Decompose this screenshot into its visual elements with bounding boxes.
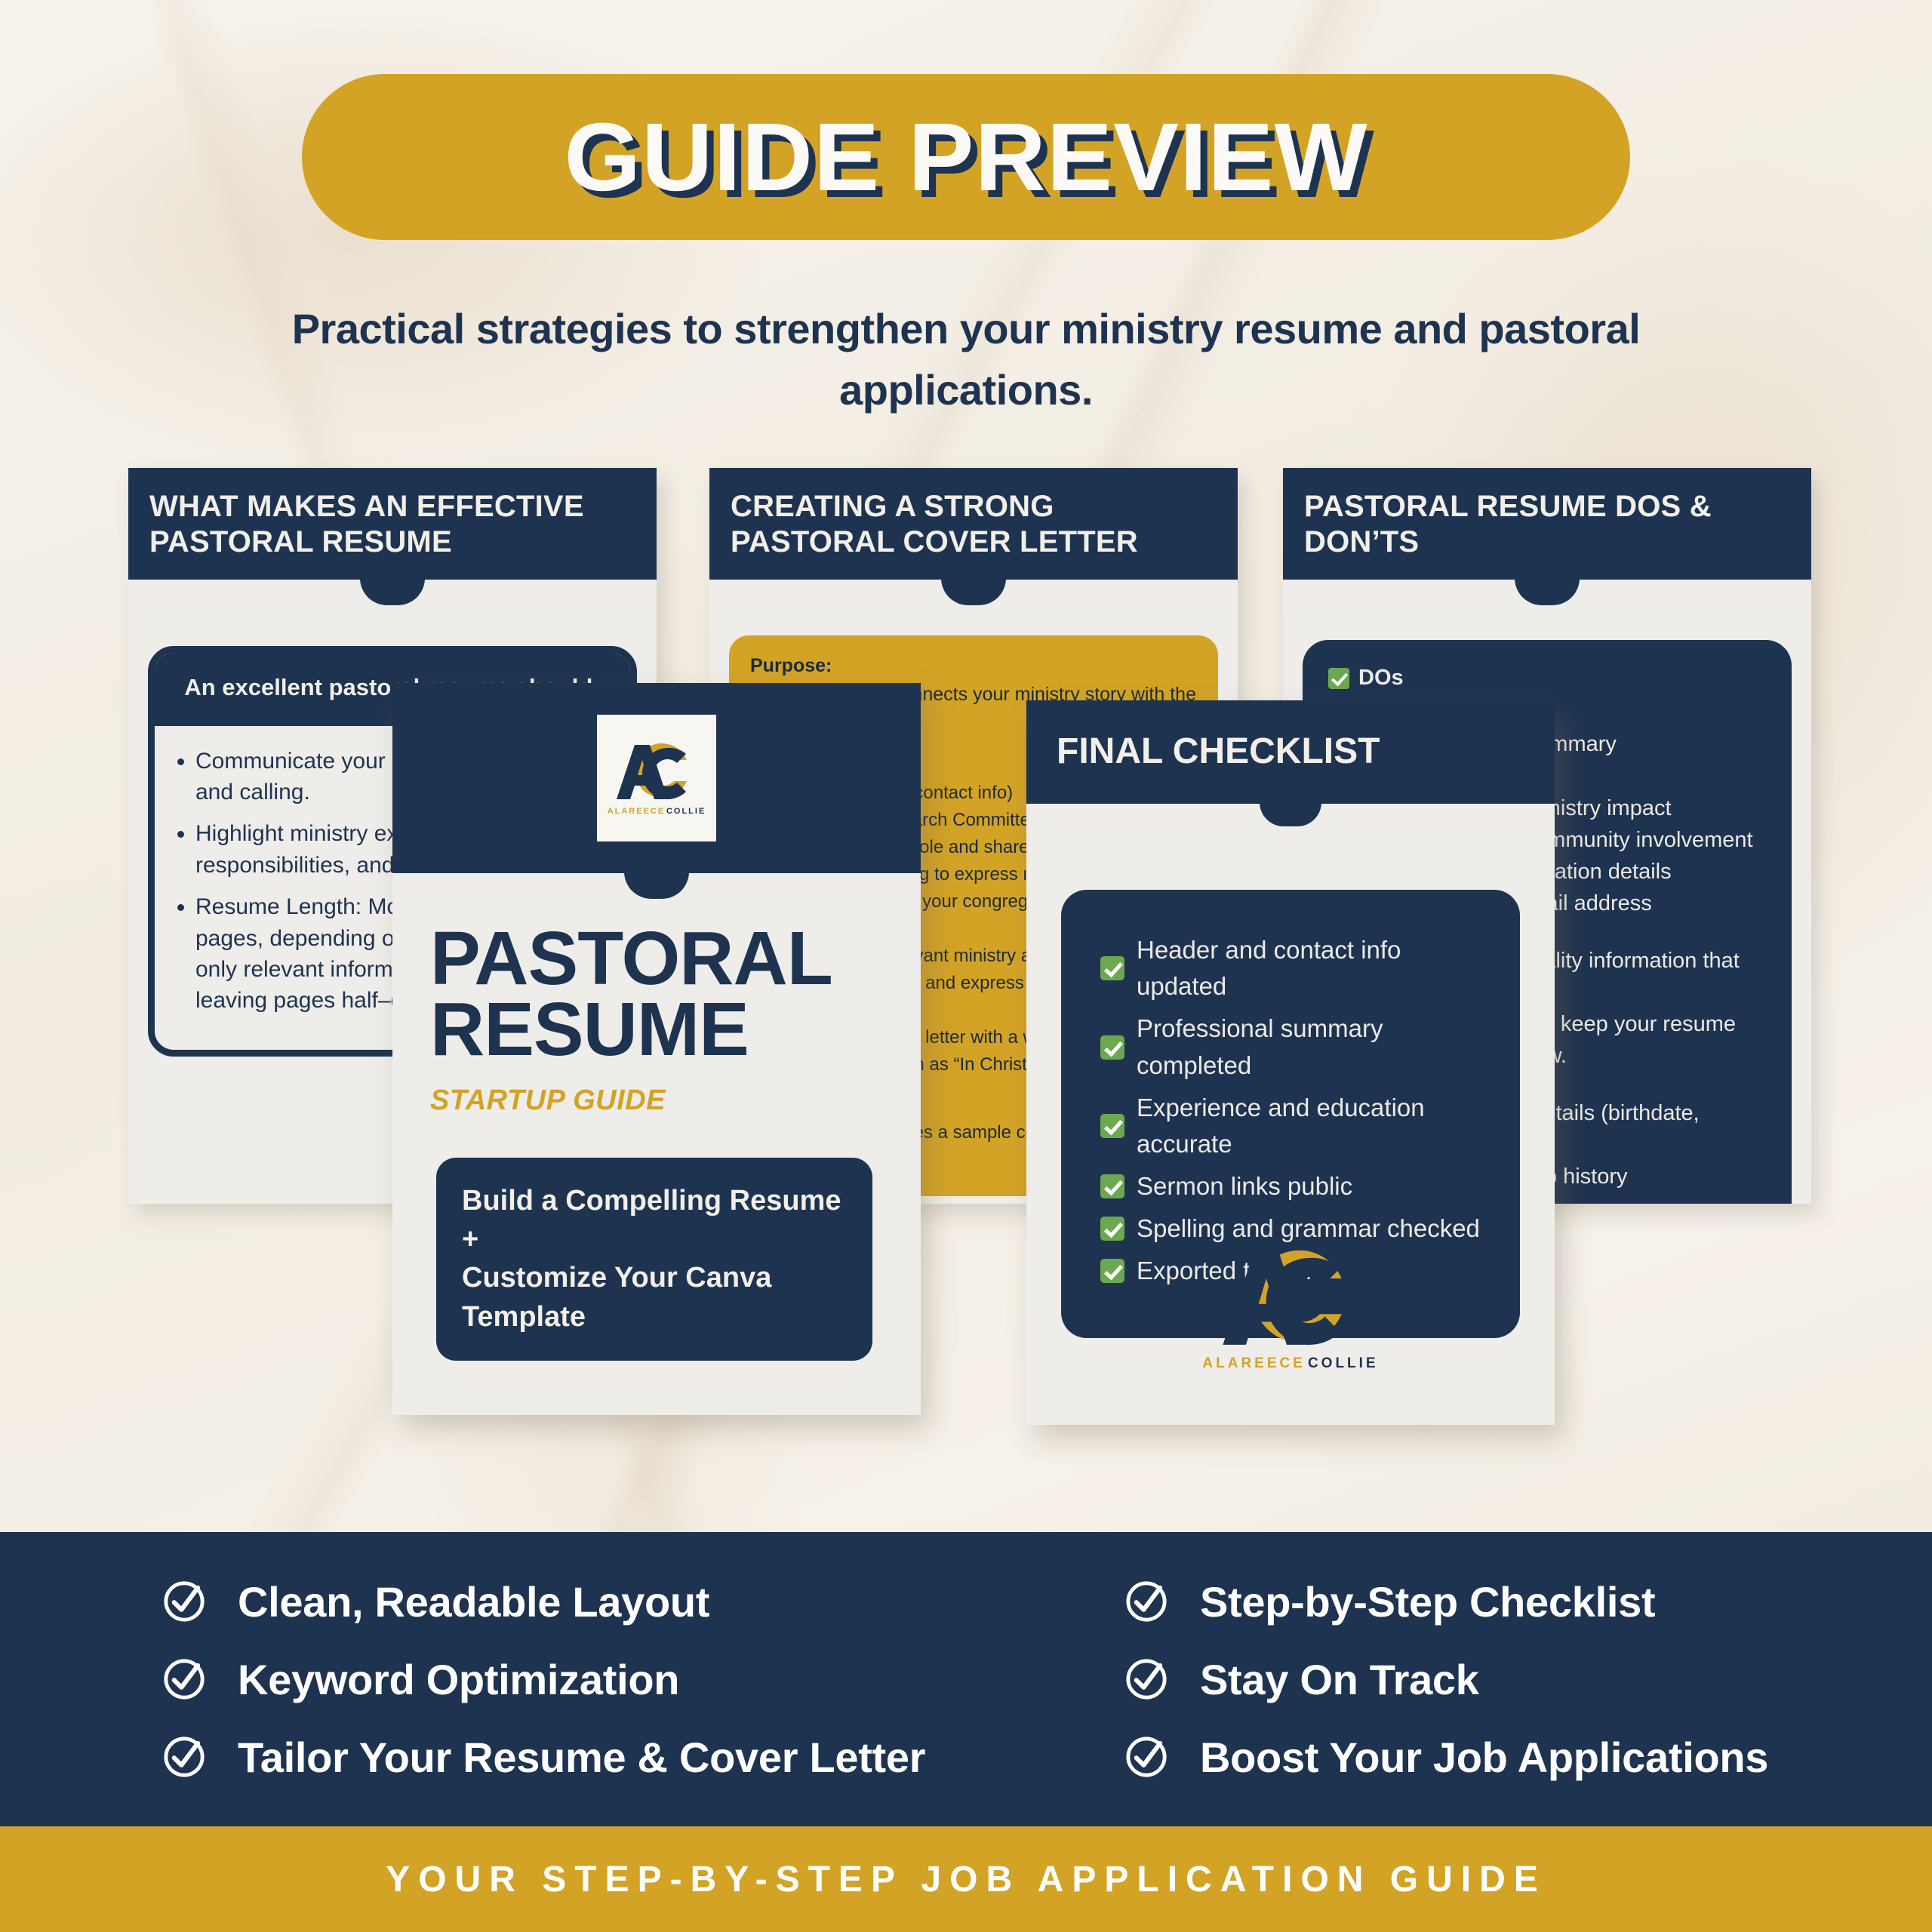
check-square-icon: [1100, 956, 1124, 980]
feature-label: Stay On Track: [1200, 1655, 1479, 1704]
brand-word-last: COLLIE: [666, 807, 706, 816]
check-square-icon: [1328, 668, 1349, 689]
check-square-icon: [1100, 1035, 1124, 1060]
checklist-item-label: Sermon links public: [1137, 1168, 1352, 1204]
cover-subtitle: STARTUP GUIDE: [430, 1084, 883, 1117]
page-title: GUIDE PREVIEW: [564, 102, 1367, 213]
list-item: Sermon links public: [1100, 1168, 1485, 1204]
feature-label: Step-by-Step Checklist: [1200, 1577, 1655, 1626]
card2-heading: CREATING A STRONG PASTORAL COVER LETTER: [709, 468, 1238, 580]
checklist-heading-text: FINAL CHECKLIST: [1057, 731, 1380, 771]
feature-label: Boost Your Job Applications: [1200, 1733, 1768, 1782]
list-item: Step-by-Step Checklist: [1124, 1577, 1932, 1626]
card1-heading-text: WHAT MAKES AN EFFECTIVE PASTORAL RESUME: [149, 490, 584, 558]
list-item: Header and contact info updated: [1100, 932, 1485, 1004]
checklist-item-label: Professional summary completed: [1137, 1011, 1485, 1083]
list-item: Boost Your Job Applications: [1124, 1733, 1932, 1782]
check-square-icon: [1100, 1217, 1124, 1241]
footer-text: YOUR STEP-BY-STEP JOB APPLICATION GUIDE: [386, 1859, 1546, 1900]
card-final-checklist: FINAL CHECKLIST Header and contact info …: [1026, 700, 1555, 1425]
checklist-item-label: Header and contact info updated: [1137, 932, 1485, 1004]
header-banner: GUIDE PREVIEW: [302, 74, 1630, 240]
cover-cta-line1: Build a Compelling Resume +: [462, 1182, 847, 1260]
ac-monogram-icon: [1215, 1245, 1366, 1352]
check-circle-icon: [1124, 1657, 1168, 1701]
list-item: Professional summary completed: [1100, 1011, 1485, 1083]
check-circle-icon: [1124, 1735, 1168, 1779]
purpose-label: Purpose:: [750, 655, 1197, 677]
cover-header: ALAREECE COLLIE: [392, 683, 921, 873]
brand-word-last: COLLIE: [1308, 1355, 1379, 1372]
brand-logo-tile: ALAREECE COLLIE: [597, 715, 716, 841]
guide-preview-page: GUIDE PREVIEW Practical strategies to st…: [0, 0, 1932, 1932]
checklist-heading: FINAL CHECKLIST: [1026, 700, 1555, 804]
cover-title-line2: RESUME: [430, 994, 883, 1065]
card-pastoral-resume-cover: ALAREECE COLLIE PASTORAL RESUME STARTUP …: [392, 683, 921, 1415]
feature-highlights-band: Clean, Readable Layout Keyword Optimizat…: [0, 1532, 1932, 1826]
check-circle-icon: [1124, 1580, 1168, 1623]
brand-word-first: ALAREECE: [608, 807, 666, 816]
check-square-icon: [1100, 1114, 1124, 1138]
cover-cta-line2: Customize Your Canva Template: [462, 1259, 847, 1337]
check-square-icon: [1100, 1174, 1124, 1198]
checklist-notch-icon: [1260, 802, 1321, 826]
list-item: Stay On Track: [1124, 1655, 1932, 1704]
brand-word-first: ALAREECE: [1202, 1355, 1306, 1372]
cover-title-line1: PASTORAL: [430, 923, 883, 994]
feature-column-right: Step-by-Step Checklist Stay On Track Boo…: [0, 1532, 1932, 1826]
footer-banner: YOUR STEP-BY-STEP JOB APPLICATION GUIDE: [0, 1826, 1932, 1932]
checklist-item-label: Spelling and grammar checked: [1137, 1211, 1480, 1247]
card2-heading-text: CREATING A STRONG PASTORAL COVER LETTER: [731, 490, 1138, 558]
brand-wordmark: ALAREECE COLLIE: [608, 807, 706, 816]
checklist-item-label: Experience and education accurate: [1137, 1090, 1485, 1162]
ac-monogram-icon: [612, 740, 701, 804]
cover-cta-button[interactable]: Build a Compelling Resume + Customize Yo…: [436, 1158, 872, 1361]
subtitle-text: Practical strategies to strengthen your …: [287, 298, 1645, 420]
card3-heading-text: PASTORAL RESUME DOS & DON’TS: [1304, 490, 1712, 558]
cover-body: PASTORAL RESUME STARTUP GUIDE: [392, 873, 921, 1117]
list-item: Spelling and grammar checked: [1100, 1211, 1485, 1247]
card3-dos-title: DOs: [1328, 666, 1766, 691]
card3-dos-title-text: DOs: [1358, 666, 1404, 691]
list-item: Experience and education accurate: [1100, 1090, 1485, 1162]
card1-heading: WHAT MAKES AN EFFECTIVE PASTORAL RESUME: [128, 468, 657, 580]
card3-heading: PASTORAL RESUME DOS & DON’TS: [1283, 468, 1811, 580]
checklist-brand-logo: ALAREECE COLLIE: [1026, 1245, 1555, 1372]
brand-wordmark: ALAREECE COLLIE: [1202, 1355, 1378, 1372]
